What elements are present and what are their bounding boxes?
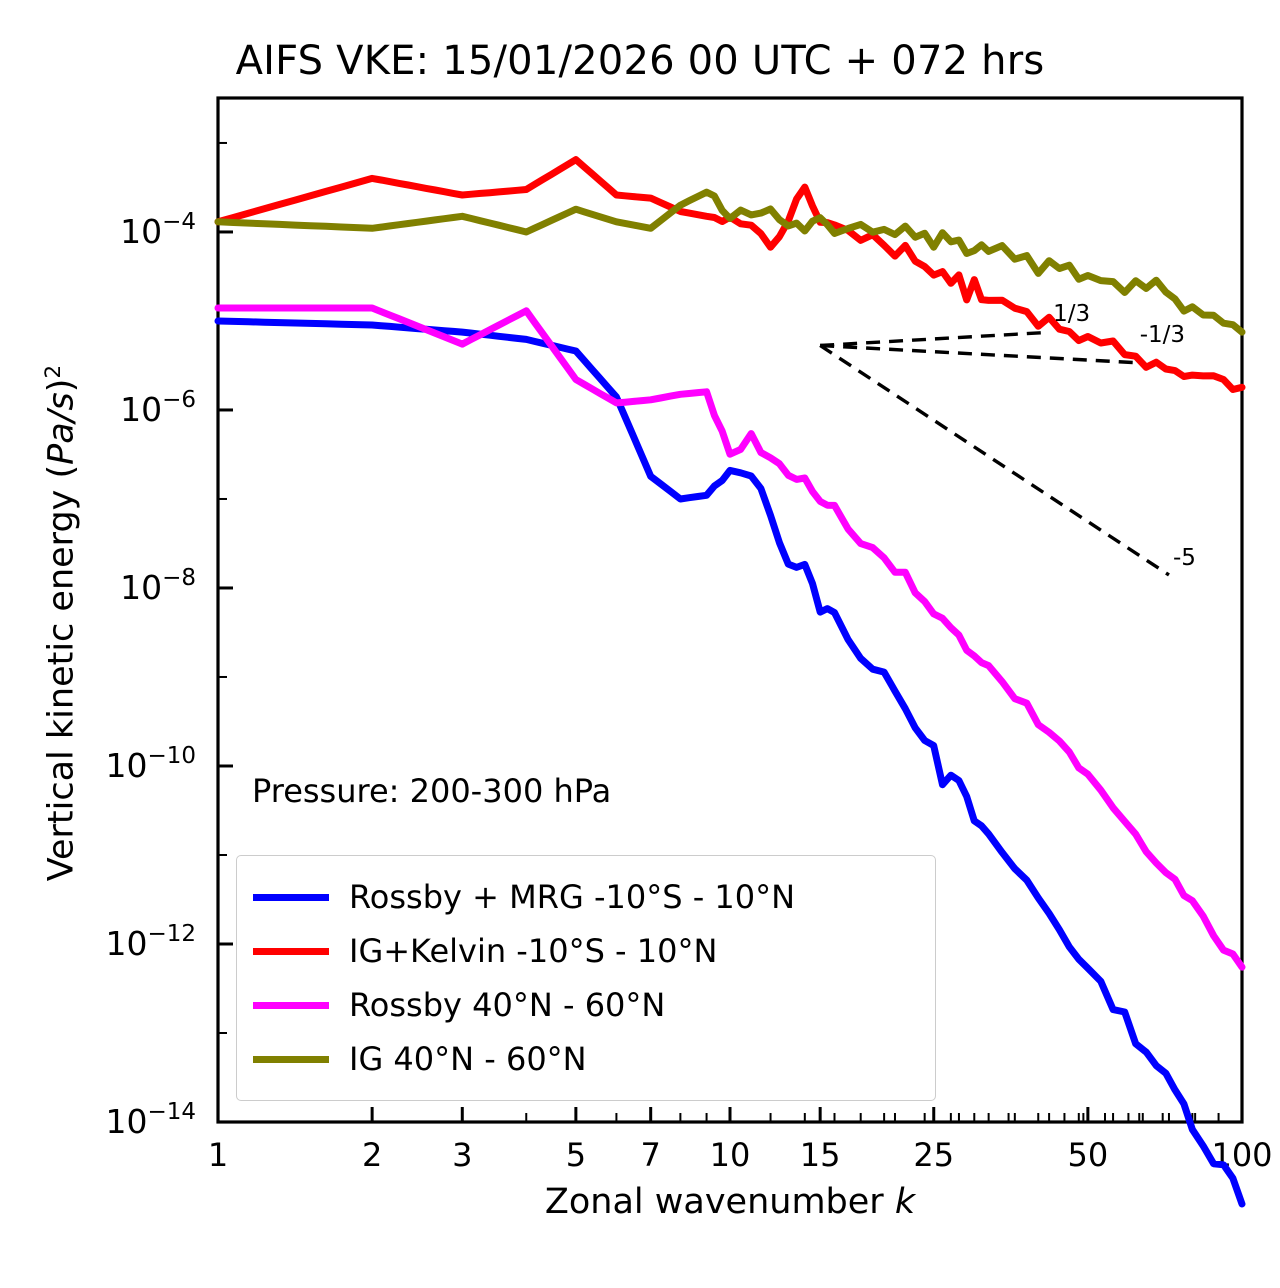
- x-axis-tick-label: 3: [452, 1136, 472, 1174]
- y-axis-tick-label: 10−12: [105, 921, 196, 963]
- legend-swatch-line: [253, 894, 329, 901]
- x-axis-label-text: Zonal wavenumber: [545, 1182, 895, 1222]
- y-axis-tick-label: 10−8: [120, 565, 196, 607]
- y-axis-tick-label: 10−10: [105, 743, 196, 785]
- x-axis-tick-label: 50: [1068, 1136, 1109, 1174]
- x-axis-label: Zonal wavenumber k: [218, 1182, 1242, 1222]
- y-axis-label-text: Vertical kinetic energy (: [42, 465, 82, 881]
- y-axis-label: Vertical kinetic energy (Pa/s)2: [41, 243, 87, 1003]
- reference-slope-line: [820, 346, 1136, 363]
- slope-annotation-minus-one-third: -1/3: [1140, 322, 1185, 348]
- legend: Rossby + MRG -10°S - 10°N IG+Kelvin -10°…: [236, 855, 936, 1101]
- legend-item-label: IG+Kelvin -10°S - 10°N: [349, 935, 717, 967]
- x-axis-tick-label: 10: [710, 1136, 751, 1174]
- legend-item-label: Rossby + MRG -10°S - 10°N: [349, 881, 795, 913]
- y-axis-label-units: Pa/s: [42, 392, 82, 465]
- legend-swatch-line: [253, 1056, 329, 1063]
- legend-item[interactable]: Rossby 40°N - 60°N: [253, 978, 917, 1032]
- legend-swatch-line: [253, 1002, 329, 1009]
- reference-slope-line: [820, 346, 1169, 575]
- y-axis-label-exponent: 2: [41, 365, 66, 379]
- slope-annotation-minus-five: -5: [1173, 545, 1196, 571]
- legend-swatch-line: [253, 948, 329, 955]
- legend-item[interactable]: IG+Kelvin -10°S - 10°N: [253, 924, 917, 978]
- chart-figure: AIFS VKE: 15/01/2026 00 UTC + 072 hrs 12…: [0, 0, 1280, 1288]
- y-axis-tick-label: 10−14: [105, 1099, 196, 1141]
- x-axis-tick-label: 7: [641, 1136, 661, 1174]
- pressure-annotation: Pressure: 200-300 hPa: [252, 772, 611, 810]
- legend-item-label: IG 40°N - 60°N: [349, 1043, 587, 1075]
- y-axis-tick-label: 10−6: [120, 387, 196, 429]
- legend-item[interactable]: Rossby + MRG -10°S - 10°N: [253, 870, 917, 924]
- x-axis-tick-label: 2: [362, 1136, 382, 1174]
- legend-item[interactable]: IG 40°N - 60°N: [253, 1032, 917, 1086]
- x-axis-tick-label: 100: [1211, 1136, 1272, 1174]
- slope-annotation-one-third: 1/3: [1053, 301, 1090, 327]
- x-axis-label-symbol: k: [895, 1182, 915, 1222]
- legend-item-label: Rossby 40°N - 60°N: [349, 989, 665, 1021]
- x-axis-tick-label: 1: [208, 1136, 228, 1174]
- x-axis-tick-label: 25: [913, 1136, 954, 1174]
- y-axis-tick-label: 10−4: [120, 209, 196, 251]
- reference-slope-line: [820, 333, 1044, 346]
- x-axis-tick-label: 5: [566, 1136, 586, 1174]
- y-axis-label-tail: ): [42, 379, 82, 393]
- x-axis-tick-label: 15: [800, 1136, 841, 1174]
